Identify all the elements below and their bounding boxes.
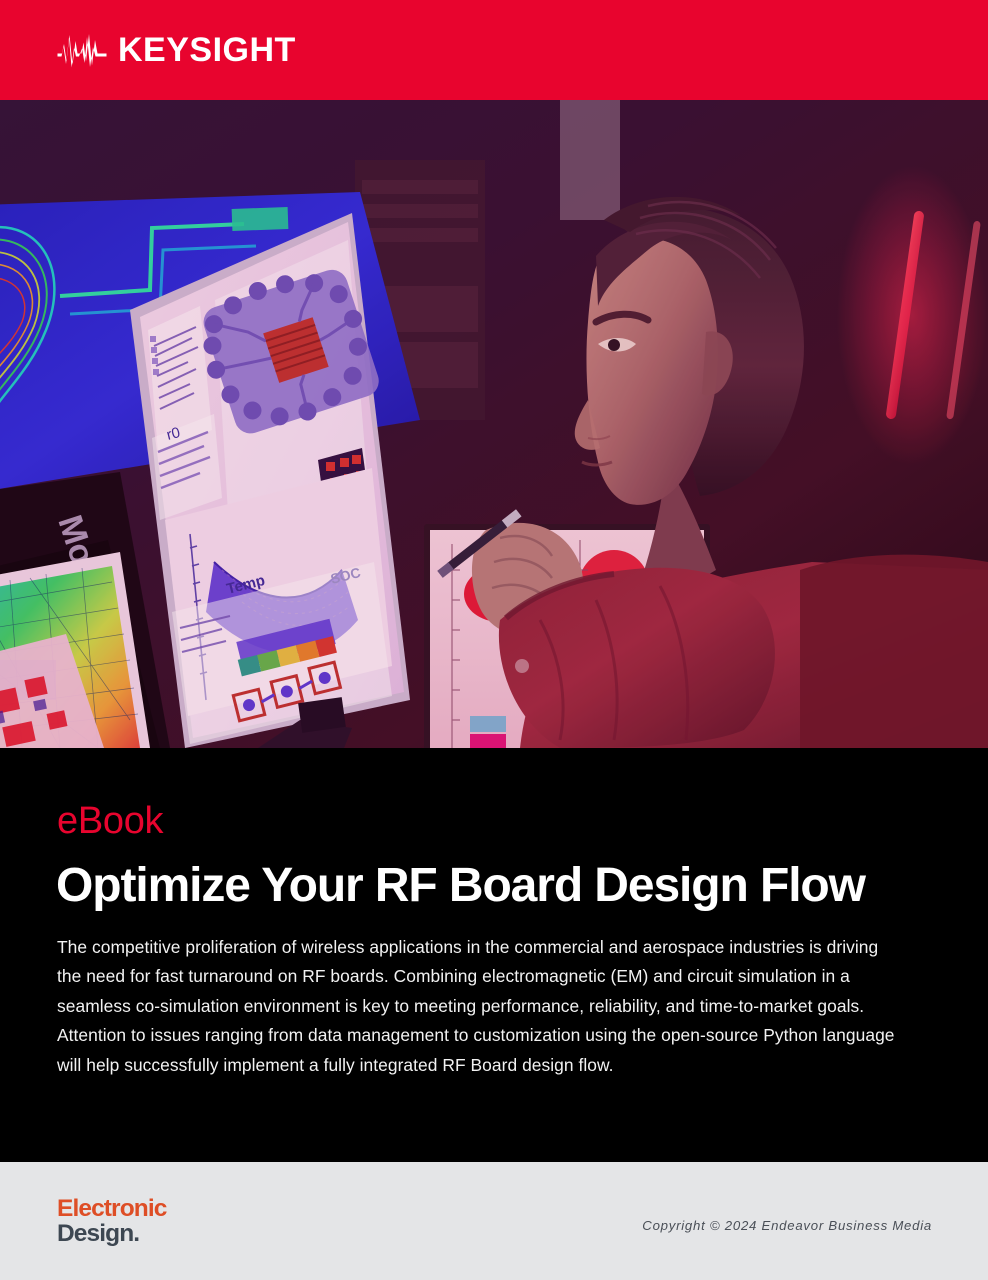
keysight-logo[interactable]: KEYSIGHT	[57, 30, 296, 70]
cover-content: eBook Optimize Your RF Board Design Flow…	[0, 748, 988, 1162]
electronic-design-logo[interactable]: Electronic Design.	[57, 1196, 166, 1246]
hero-image: Module Test	[0, 100, 988, 748]
keysight-wordmark: KEYSIGHT	[118, 33, 296, 67]
hero-photo-illustration: Module Test	[0, 100, 988, 748]
copyright-notice: Copyright © 2024 Endeavor Business Media	[642, 1218, 932, 1233]
electronic-design-logo-line1: Electronic	[57, 1196, 166, 1221]
electronic-design-logo-period: .	[133, 1220, 139, 1247]
page-header: KEYSIGHT	[0, 0, 988, 100]
abstract-paragraph: The competitive proliferation of wireles…	[57, 933, 895, 1080]
page-footer: Electronic Design. Copyright © 2024 Ende…	[0, 1162, 988, 1280]
ebook-cover-page: KEYSIGHT	[0, 0, 988, 1280]
content-type-label: eBook	[57, 802, 163, 840]
electronic-design-logo-line2: Design.	[57, 1221, 166, 1246]
keysight-waveform-icon	[57, 30, 107, 70]
electronic-design-logo-word: Design	[57, 1220, 133, 1247]
page-title: Optimize Your RF Board Design Flow	[56, 861, 946, 911]
